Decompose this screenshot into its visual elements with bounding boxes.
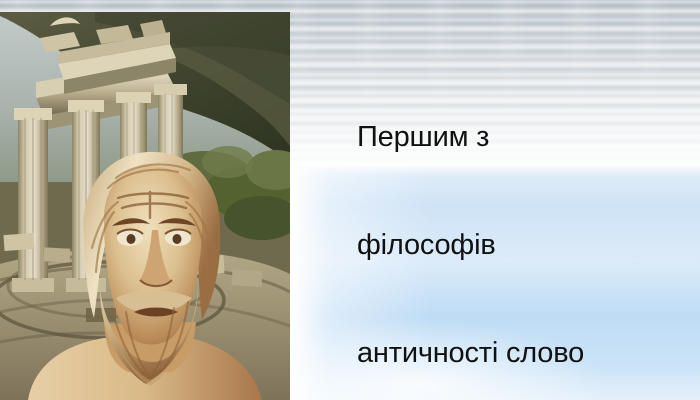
slide-body-text: Першим з філософів античності слово «Атл… <box>357 47 687 400</box>
illustration-herodotus-ruins <box>0 12 290 400</box>
illustration-artwork <box>0 12 290 400</box>
text-line-1: Першим з <box>357 119 687 155</box>
slide-canvas: Першим з філософів античності слово «Атл… <box>0 0 700 400</box>
text-line-3: античності слово <box>357 335 687 371</box>
text-line-2: філософів <box>357 227 687 263</box>
